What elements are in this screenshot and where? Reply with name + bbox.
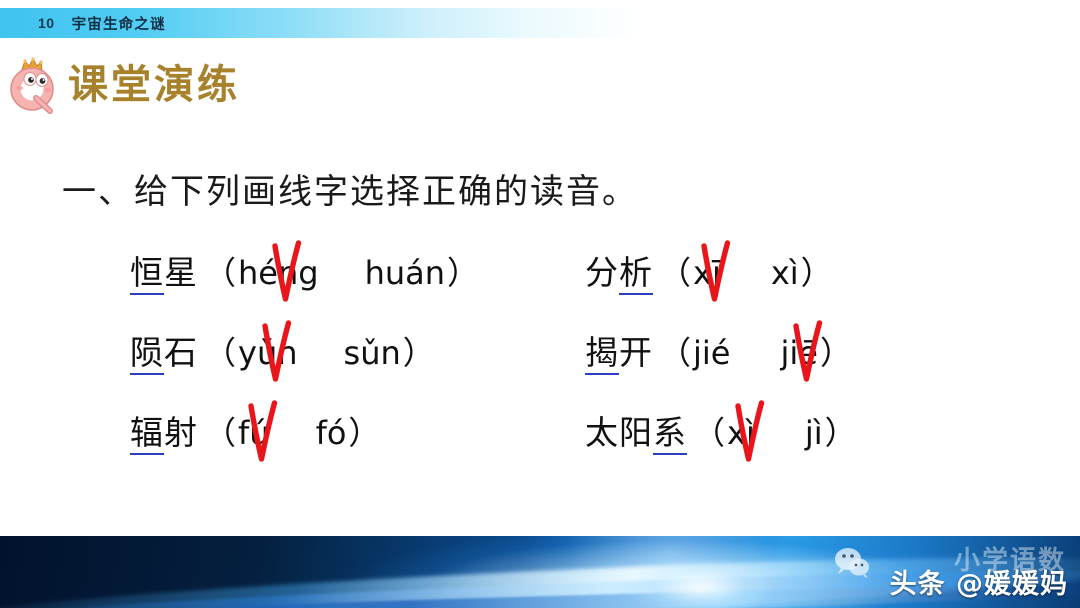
open-bracket: （: [204, 416, 236, 451]
pinyin-option-a-text: jié: [693, 334, 730, 372]
open-bracket: （: [204, 336, 236, 371]
close-bracket: ）: [825, 416, 857, 451]
exercise-row: 辐射 （ fú fó ） 太阳系: [130, 415, 990, 495]
open-bracket: （: [659, 256, 691, 291]
exercise-list: 恒星 （ héng huán ） 分析: [130, 255, 990, 495]
exercise-word: 辐射: [130, 415, 198, 451]
pinyin-option-b-text: fó: [316, 414, 347, 452]
pinyin-option-a[interactable]: héng: [236, 256, 321, 291]
pinyin-options: （ fú fó ）: [204, 416, 380, 451]
pinyin-option-a-text: héng: [238, 254, 319, 292]
word-suffix: 射: [164, 413, 198, 452]
pinyin-option-a[interactable]: fú: [236, 416, 272, 451]
word-underlined-char: 辐: [130, 413, 164, 455]
close-bracket: ）: [403, 336, 435, 371]
pinyin-option-b[interactable]: sǔn: [342, 336, 403, 371]
open-bracket: （: [693, 416, 725, 451]
pinyin-option-b-text: sǔn: [344, 334, 401, 372]
question-prompt: 一、给下列画线字选择正确的读音。: [62, 164, 638, 213]
slide-root: 10 宇宙生命之谜: [0, 0, 1080, 608]
exercise-word: 分析: [585, 255, 653, 291]
exercise-item[interactable]: 揭开 （ jié jiē ）: [585, 335, 985, 371]
pinyin-option-a-text: yǔn: [238, 334, 298, 372]
lesson-title: 宇宙生命之谜: [72, 13, 166, 34]
exercise-item[interactable]: 恒星 （ héng huán ）: [130, 255, 585, 291]
section-title: 课堂演练: [68, 65, 240, 105]
pinyin-options: （ xì jì ）: [693, 416, 857, 451]
exercise-word: 陨石: [130, 335, 198, 371]
word-underlined-char: 陨: [130, 333, 164, 375]
open-bracket: （: [204, 256, 236, 291]
exercise-word: 揭开: [585, 335, 653, 371]
pinyin-option-a-text: fú: [238, 414, 270, 452]
pinyin-options: （ xī xì ）: [659, 256, 833, 291]
section-heading: 课堂演练: [6, 54, 240, 116]
exercise-item[interactable]: 辐射 （ fú fó ）: [130, 415, 585, 451]
pinyin-option-b-text: xì: [771, 254, 799, 292]
pinyin-options: （ héng huán ）: [204, 256, 479, 291]
word-suffix: 星: [164, 253, 198, 292]
word-underlined-char: 系: [653, 413, 687, 455]
pinyin-option-b-text: huán: [365, 254, 445, 292]
pinyin-option-a[interactable]: xì: [725, 416, 757, 451]
open-bracket: （: [659, 336, 691, 371]
close-bracket: ）: [447, 256, 479, 291]
close-bracket: ）: [801, 256, 833, 291]
bottom-space-banner: [0, 536, 1080, 608]
lesson-number: 10: [38, 15, 55, 31]
exercise-item[interactable]: 分析 （ xī xì ）: [585, 255, 985, 291]
lesson-breadcrumb-bar: 10 宇宙生命之谜: [0, 8, 640, 38]
exercise-item[interactable]: 太阳系 （ xì jì ）: [585, 415, 985, 451]
word-suffix: 石: [164, 333, 198, 372]
exercise-word: 太阳系: [585, 415, 687, 451]
close-bracket: ）: [820, 336, 852, 371]
pinyin-option-a[interactable]: yǔn: [236, 336, 300, 371]
pinyin-options: （ yǔn sǔn ）: [204, 336, 435, 371]
q-mascot-icon: [6, 56, 60, 114]
exercise-row: 恒星 （ héng huán ） 分析: [130, 255, 990, 335]
pinyin-option-b[interactable]: xì: [769, 256, 801, 291]
word-underlined-char: 揭: [585, 333, 619, 375]
pinyin-option-b[interactable]: fó: [314, 416, 349, 451]
pinyin-option-b-text: jiē: [780, 334, 817, 372]
exercise-row: 陨石 （ yǔn sǔn ） 揭开: [130, 335, 990, 415]
pinyin-option-a-text: xī: [693, 254, 721, 292]
pinyin-option-a[interactable]: jié: [691, 336, 732, 371]
pinyin-option-a[interactable]: xī: [691, 256, 723, 291]
exercise-item[interactable]: 陨石 （ yǔn sǔn ）: [130, 335, 585, 371]
word-underlined-char: 恒: [130, 253, 164, 295]
word-prefix: 太阳: [585, 413, 653, 452]
close-bracket: ）: [348, 416, 380, 451]
word-prefix: 分: [585, 253, 619, 292]
pinyin-option-b[interactable]: huán: [363, 256, 447, 291]
banner-glow: [626, 558, 776, 608]
pinyin-option-b-text: jì: [805, 414, 823, 452]
pinyin-options: （ jié jiē ）: [659, 336, 852, 371]
pinyin-option-b[interactable]: jiē: [778, 336, 819, 371]
word-suffix: 开: [619, 333, 653, 372]
pinyin-option-a-text: xì: [727, 414, 755, 452]
pinyin-option-b[interactable]: jì: [803, 416, 825, 451]
exercise-word: 恒星: [130, 255, 198, 291]
word-underlined-char: 析: [619, 253, 653, 295]
